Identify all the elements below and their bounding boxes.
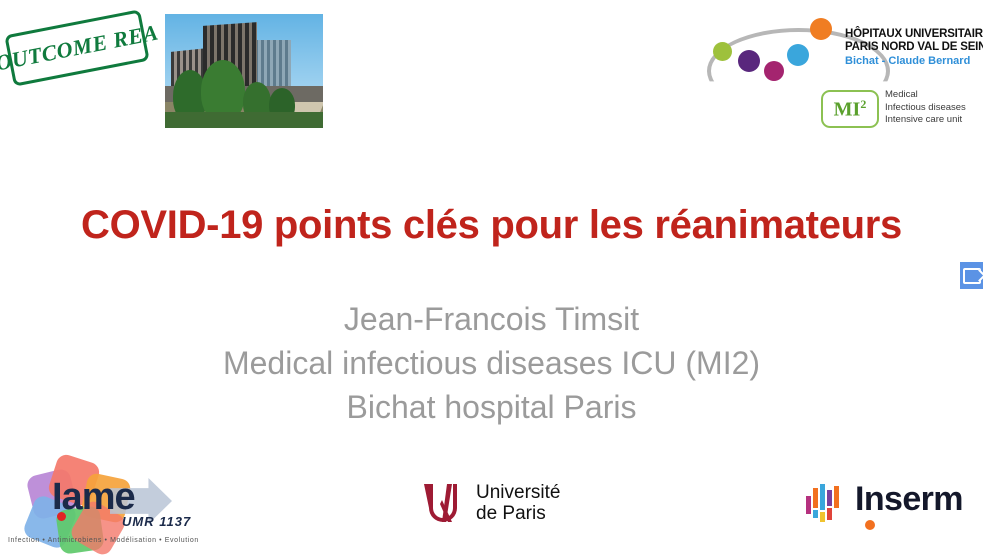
mi2-badge-text: MI2 (834, 98, 867, 120)
iame-unit-number: UMR 1137 (122, 514, 191, 529)
mi2-badge: MI2 (821, 90, 879, 128)
inserm-orange-dot (865, 520, 875, 530)
mi2-desc-line3: Intensive care unit (885, 114, 981, 127)
presentation-slide: OUTCOME REA HÔPITAUX UNIVERSITAIRES PARI… (0, 0, 983, 550)
mi2-desc-line2: Infectious diseases (885, 102, 981, 115)
stamp-label: OUTCOME REA (4, 9, 149, 86)
purple-dot (738, 50, 760, 72)
iame-logo: Iame UMR 1137 (28, 456, 198, 548)
slide-subtitle: Jean-Francois Timsit Medical infectious … (0, 297, 983, 429)
universite-line2: de Paris (476, 503, 560, 524)
iame-red-dot (57, 512, 66, 521)
iame-tagline: Infection • Antimicrobiens • Modélisatio… (8, 537, 199, 544)
inserm-logo: Inserm (805, 478, 975, 532)
hospital-name-line3: Bichat - Claude Bernard (845, 54, 977, 68)
screen-share-glyph (963, 268, 981, 284)
presenter-name: Jean-Francois Timsit (0, 297, 983, 341)
orange-dot (810, 18, 832, 40)
hospital-building-photo (165, 14, 323, 128)
presenter-institution: Bichat hospital Paris (0, 385, 983, 429)
slide-title: COVID-19 points clés pour les réanimateu… (0, 203, 983, 248)
magenta-dot (764, 61, 784, 81)
hospital-name-line2: PARIS NORD VAL DE SEINE (845, 41, 977, 54)
universite-wordmark: Université de Paris (476, 482, 560, 524)
universite-line1: Université (476, 482, 560, 503)
presenter-department: Medical infectious diseases ICU (MI2) (0, 341, 983, 385)
blue-dot (787, 44, 809, 66)
outcome-rea-stamp: OUTCOME REA (4, 9, 149, 86)
inserm-wordmark: Inserm (855, 480, 963, 519)
hospital-name-line1: HÔPITAUX UNIVERSITAIRES (845, 28, 977, 41)
mi2-description: Medical Infectious diseases Intensive ca… (885, 89, 981, 127)
mi2-desc-line1: Medical (885, 89, 981, 102)
universite-monogram-icon (420, 480, 466, 526)
iame-wordmark: Iame (52, 478, 135, 516)
screen-share-icon[interactable] (960, 262, 983, 289)
hospital-logo-text: HÔPITAUX UNIVERSITAIRES PARIS NORD VAL D… (845, 28, 977, 68)
inserm-bars-icon (805, 482, 847, 524)
hospital-logo: HÔPITAUX UNIVERSITAIRES PARIS NORD VAL D… (705, 6, 977, 132)
photo-shrubs (165, 112, 323, 128)
universite-de-paris-logo: Université de Paris (420, 478, 600, 530)
green-dot (713, 42, 732, 61)
